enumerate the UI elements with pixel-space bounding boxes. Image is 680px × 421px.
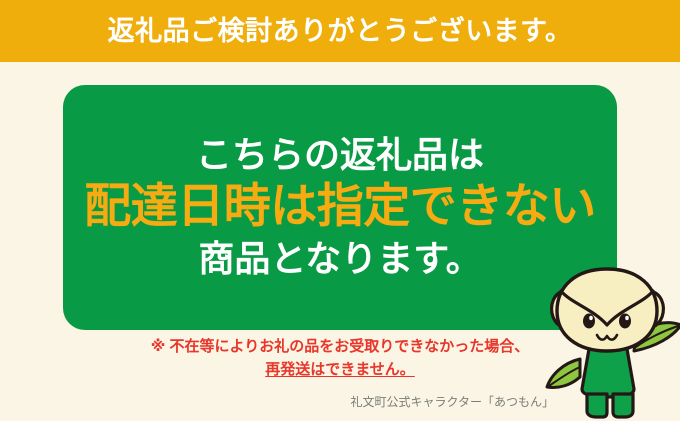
notice-line-2-underlined: 再発送はできません。 xyxy=(265,359,415,382)
mascot-atsumon-illustration xyxy=(537,263,680,421)
mascot-head-icon xyxy=(557,269,657,351)
panel-line-intro: こちらの返礼品は xyxy=(196,136,484,175)
eye-right-icon xyxy=(619,314,631,329)
foot-left-icon xyxy=(587,394,607,417)
notice-banner: 返礼品ご検討ありがとうございます。 こちらの返礼品は 配達日時は指定できない 商… xyxy=(0,0,680,421)
header-title: 返礼品ご検討ありがとうございます。 xyxy=(108,18,573,45)
foot-right-icon xyxy=(613,394,633,417)
eye-left-icon xyxy=(583,314,595,329)
green-message-panel-content: こちらの返礼品は 配達日時は指定できない 商品となります。 xyxy=(63,85,617,330)
eye-left-highlight-icon xyxy=(589,316,593,320)
mascot-atsumon-icon xyxy=(537,263,680,421)
eye-right-highlight-icon xyxy=(625,316,629,320)
mascot-caption: 礼文町公式キャラクター「あつもん」 xyxy=(0,393,554,410)
panel-line-outro: 商品となります。 xyxy=(198,240,481,279)
header-bar: 返礼品ご検討ありがとうございます。 xyxy=(0,0,680,62)
green-message-panel: こちらの返礼品は 配達日時は指定できない 商品となります。 xyxy=(63,85,617,330)
panel-line-highlight: 配達日時は指定できない xyxy=(84,181,596,232)
